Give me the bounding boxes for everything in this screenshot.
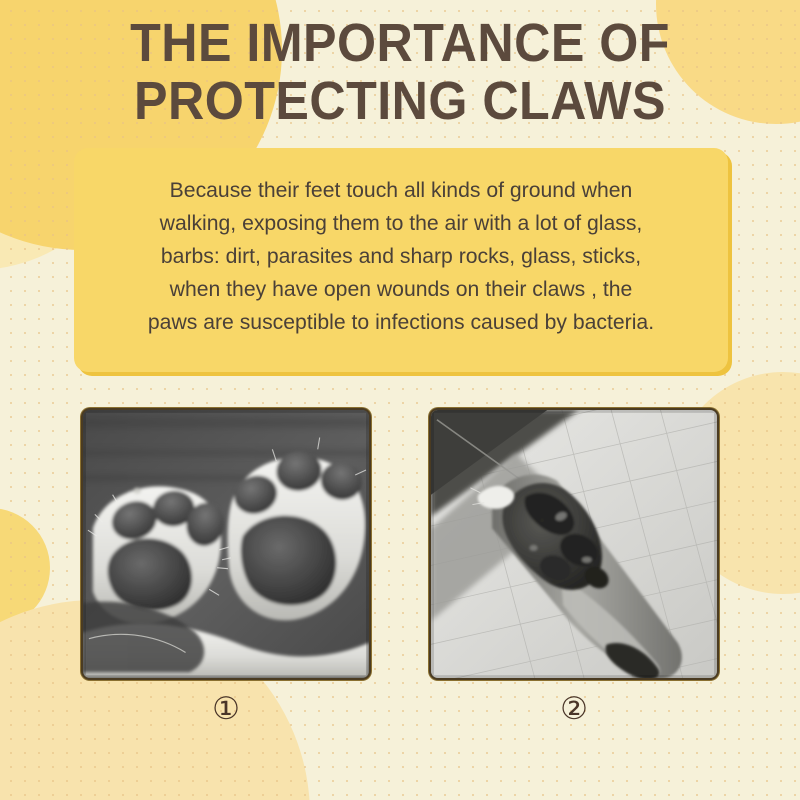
- poster: THE IMPORTANCE OF PROTECTING CLAWS Becau…: [0, 0, 800, 800]
- panel-1-caption: ①: [81, 692, 371, 726]
- description-card: Because their feet touch all kinds of gr…: [74, 148, 728, 372]
- image-panel-1-wrapper: ①: [81, 408, 371, 726]
- image-panel-2-wrapper: ②: [429, 408, 719, 726]
- image-panel-group: ①: [0, 408, 800, 726]
- poster-content: THE IMPORTANCE OF PROTECTING CLAWS Becau…: [0, 0, 800, 800]
- image-panel-1[interactable]: [81, 408, 371, 680]
- image-panel-2[interactable]: [429, 408, 719, 680]
- healthy-paws-photo: [83, 410, 369, 678]
- injured-paw-photo: [431, 410, 717, 678]
- panel-2-caption: ②: [429, 692, 719, 726]
- description-text: Because their feet touch all kinds of gr…: [99, 174, 704, 339]
- page-title: THE IMPORTANCE OF PROTECTING CLAWS: [28, 14, 772, 130]
